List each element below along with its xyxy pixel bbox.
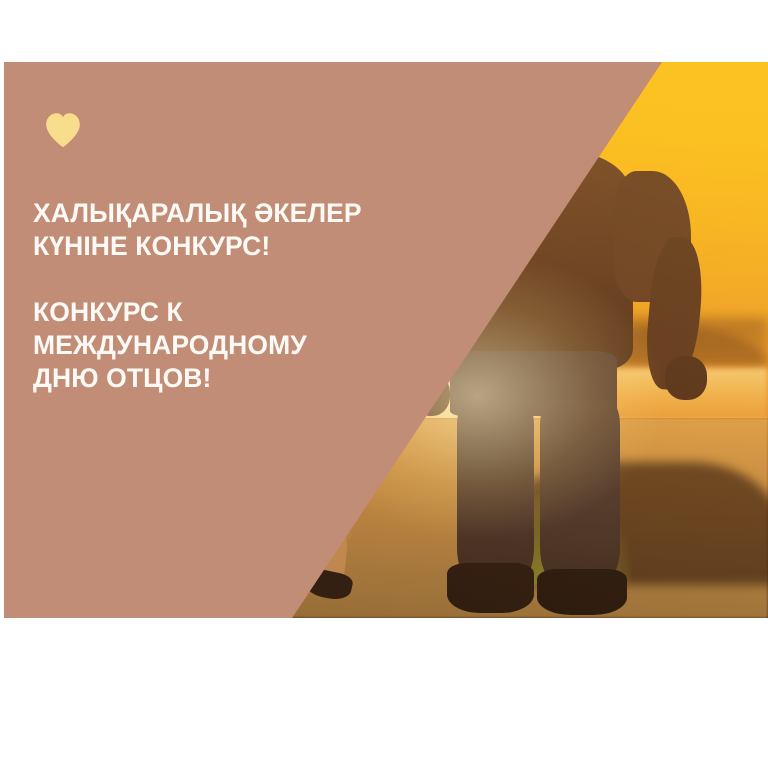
father-hand-right [665,356,707,400]
heart-icon [44,112,82,148]
headline-group: ХАЛЫҚАРАЛЫҚ ӘКЕЛЕР КҮНІНЕ КОНКУРС! КОНКУ… [33,197,463,395]
father-leg-right [540,400,620,580]
headline-russian: КОНКУРС К МЕЖДУНАРОДНОМУ ДНЮ ОТЦОВ! [33,296,463,395]
poster-canvas: ХАЛЫҚАРАЛЫҚ ӘКЕЛЕР КҮНІНЕ КОНКУРС! КОНКУ… [4,62,768,618]
father-boot-left [447,563,534,612]
headline-kazakh: ХАЛЫҚАРАЛЫҚ ӘКЕЛЕР КҮНІНЕ КОНКУРС! [33,197,463,263]
father-leg-left [457,400,534,580]
father-boot-right [537,569,627,615]
